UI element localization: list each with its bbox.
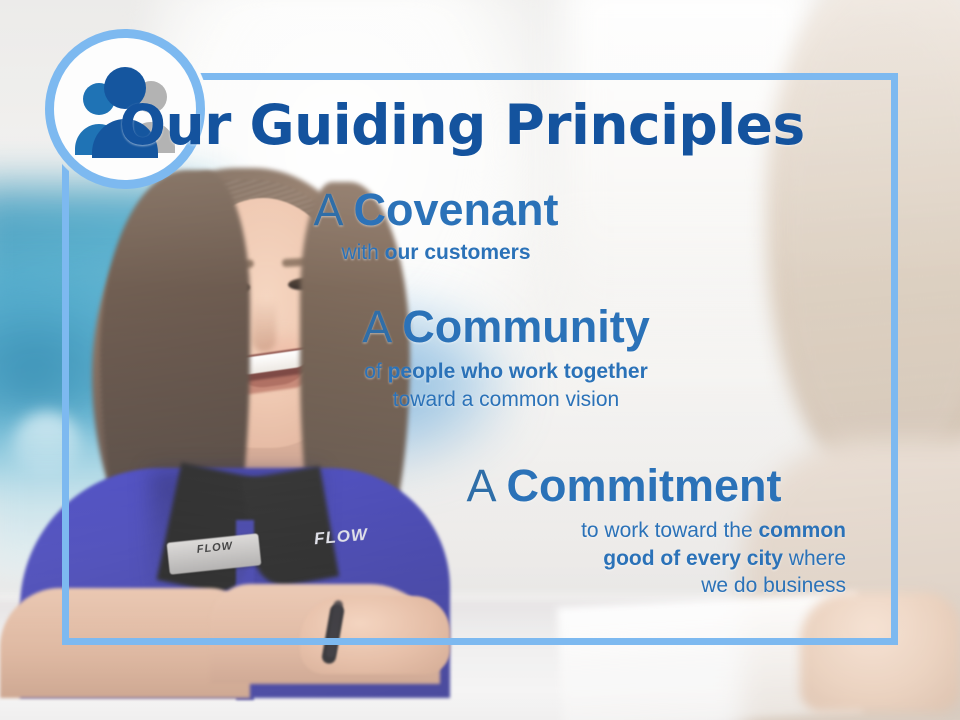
principle-commitment-keyword: Commitment — [507, 460, 782, 511]
principle-community-detail-bold: people who work together — [388, 360, 648, 383]
principle-community-keyword: Community — [402, 301, 650, 352]
principle-commitment-detail-line2: good of every city where — [603, 547, 846, 570]
page-title: Our Guiding Principles — [62, 96, 862, 154]
principle-covenant-article: A — [313, 184, 353, 235]
principle-community-detail-plain: of — [364, 360, 387, 383]
principle-commitment-heading: A Commitment — [398, 462, 850, 509]
principle-commitment: A Commitment to work toward the common g… — [398, 462, 850, 599]
principle-covenant: A Covenant with our customers — [200, 186, 672, 267]
principle-community-detail: of people who work together toward a com… — [280, 358, 732, 413]
principle-covenant-keyword: Covenant — [354, 184, 559, 235]
principle-covenant-detail: with our customers — [200, 239, 672, 266]
principle-community-heading: A Community — [280, 303, 732, 350]
principle-community-article: A — [362, 301, 402, 352]
principle-commitment-detail: to work toward the common good of every … — [398, 517, 850, 599]
principle-covenant-detail-plain: with — [341, 241, 384, 264]
principle-commitment-detail-line1: to work toward the common — [581, 519, 846, 542]
guiding-principles-banner: FLOW FLOW Our Guiding Principles A Coven… — [0, 0, 960, 720]
principle-community: A Community of people who work together … — [280, 303, 732, 413]
principle-covenant-heading: A Covenant — [200, 186, 672, 233]
principle-covenant-detail-bold: our customers — [385, 241, 531, 264]
principle-community-detail-line2: toward a common vision — [393, 388, 619, 411]
principle-commitment-article: A — [466, 460, 506, 511]
principle-commitment-detail-line3: we do business — [701, 574, 846, 597]
